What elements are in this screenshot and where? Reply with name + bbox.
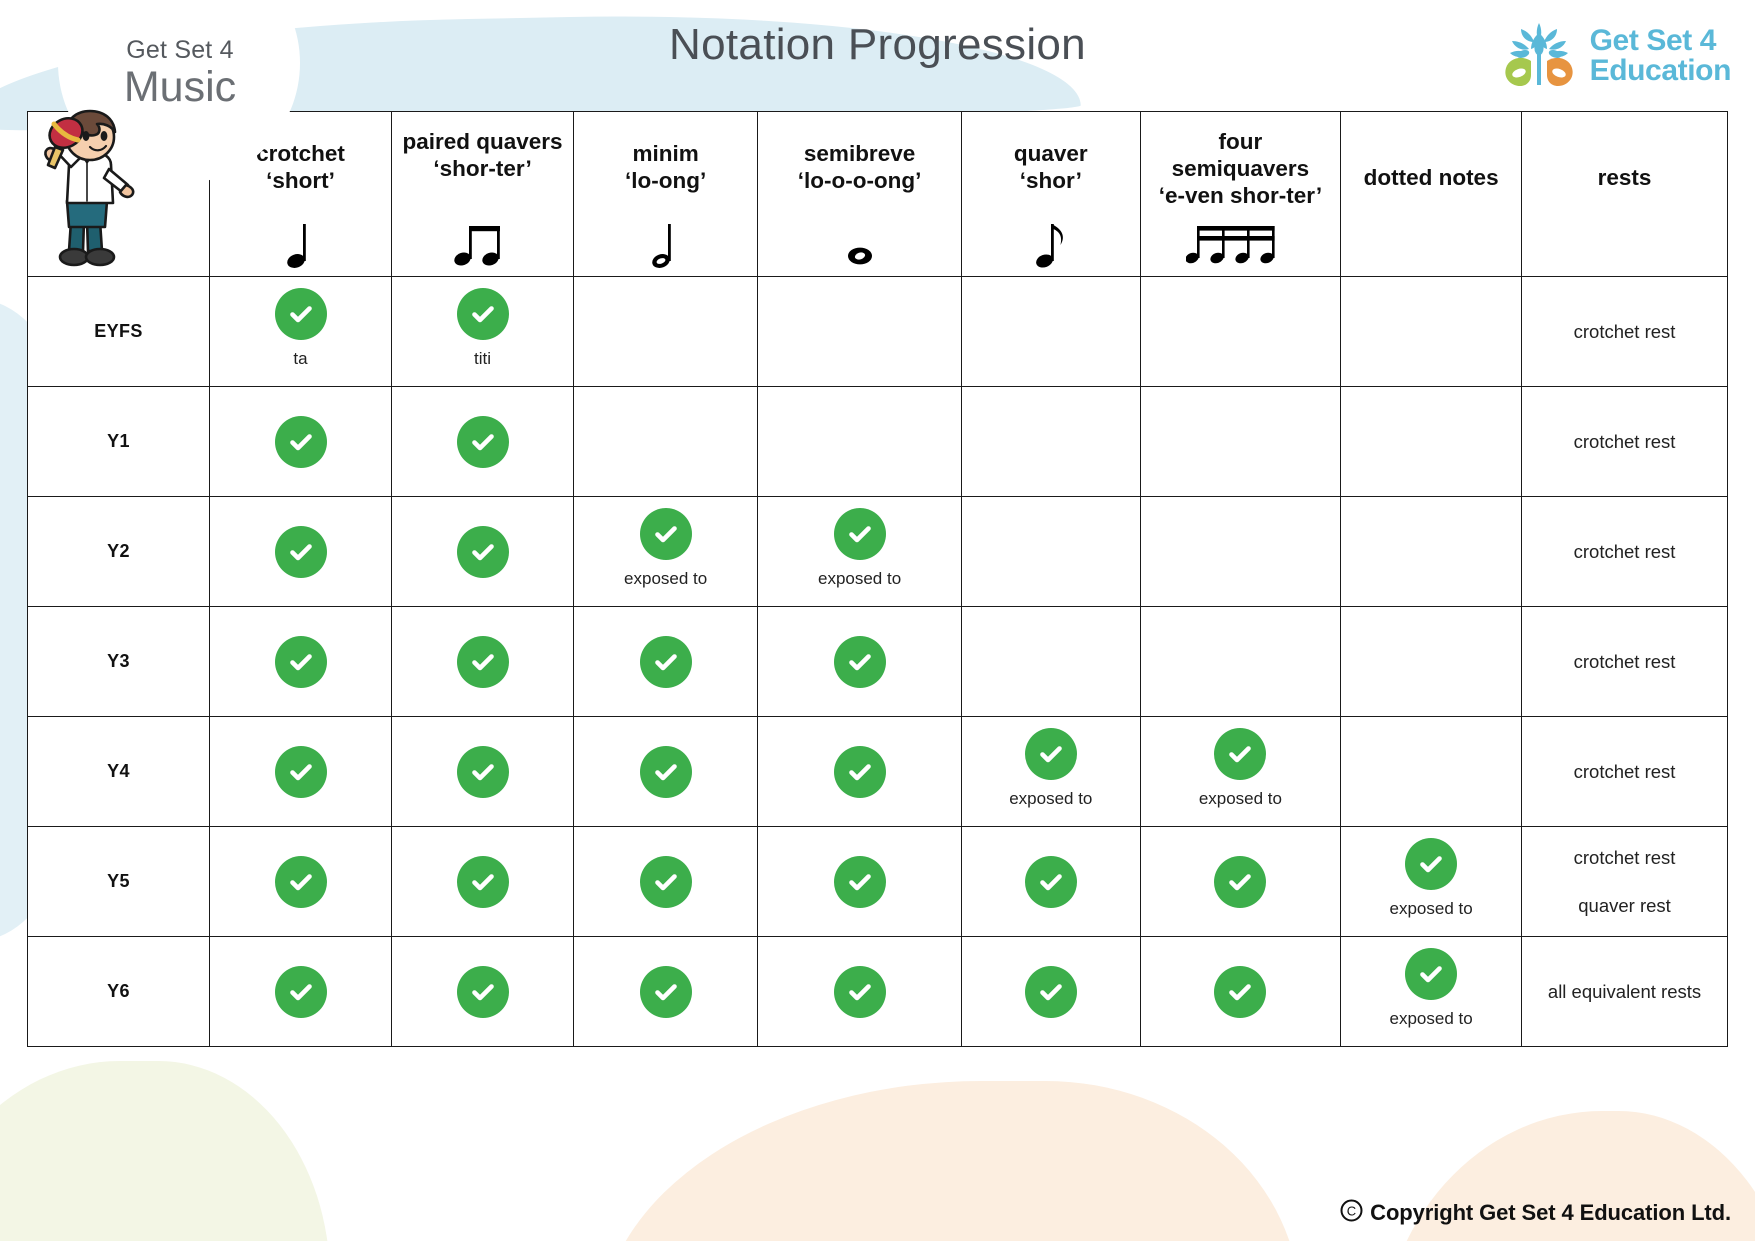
check-icon	[457, 288, 509, 340]
cell-paired_quavers	[392, 387, 574, 497]
cell-crotchet: ta	[210, 277, 392, 387]
cell-minim	[574, 827, 758, 937]
header-sub-four-semiquavers: ‘e-ven shor-ter’	[1147, 182, 1334, 209]
child-with-maraca-illustration	[24, 103, 154, 275]
header-label-dotted-notes: dotted notes	[1347, 164, 1515, 191]
four-semiquavers-note-icon	[1141, 214, 1340, 272]
header-cell-four-semiquavers: four semiquavers ‘e-ven shor-ter’	[1140, 112, 1340, 277]
header-sub-paired-quavers: ‘shor-ter’	[398, 155, 567, 182]
cell-note: exposed to	[1390, 899, 1473, 919]
background-blob-peach-left	[600, 1081, 1300, 1241]
row-label-cell: Y6	[28, 937, 210, 1047]
tree-hands-logo-icon	[1501, 17, 1577, 94]
cell-semibreve	[758, 607, 962, 717]
cell-crotchet	[210, 937, 392, 1047]
copyright-text: Copyright Get Set 4 Education Ltd.	[1370, 1200, 1731, 1226]
header-label-quaver: quaver	[968, 140, 1134, 167]
row-label-cell: EYFS	[28, 277, 210, 387]
copyright-icon: C	[1340, 1199, 1363, 1227]
get-set-4-education-logo: Get Set 4 Education	[1501, 17, 1731, 94]
header-label-rests: rests	[1528, 164, 1721, 191]
cell-minim	[574, 937, 758, 1047]
check-icon	[1405, 838, 1457, 890]
check-icon	[457, 526, 509, 578]
logo-line-1: Get Set 4	[1590, 26, 1731, 56]
cell-dotted_notes: exposed to	[1341, 827, 1522, 937]
footer-copyright: C Copyright Get Set 4 Education Ltd.	[1340, 1199, 1731, 1227]
check-icon	[1025, 966, 1077, 1018]
header-cell-dotted-notes: dotted notes	[1341, 112, 1522, 277]
logo-line-2: Education	[1590, 56, 1731, 86]
check-icon	[834, 636, 886, 688]
check-icon	[1214, 728, 1266, 780]
header-label-semibreve: semibreve	[764, 140, 955, 167]
table-row: Y1crotchet rest	[28, 387, 1728, 497]
cell-rests: crotchet rest	[1522, 277, 1728, 387]
rest-label: quaver rest	[1574, 882, 1676, 929]
check-icon	[457, 966, 509, 1018]
cell-semibreve	[758, 937, 962, 1047]
cell-note: ta	[293, 349, 307, 369]
table-row: Y2exposed toexposed tocrotchet rest	[28, 497, 1728, 607]
cell-dotted_notes	[1341, 607, 1522, 717]
table-row: EYFStatiticrotchet rest	[28, 277, 1728, 387]
cell-note: exposed to	[1009, 789, 1092, 809]
cell-semibreve: exposed to	[758, 497, 962, 607]
cell-quaver	[961, 937, 1140, 1047]
cell-four_semiquavers	[1140, 497, 1340, 607]
row-label-cell: Y5	[28, 827, 210, 937]
check-icon	[640, 746, 692, 798]
rest-label: crotchet rest	[1574, 638, 1676, 685]
rest-label: crotchet rest	[1574, 748, 1676, 795]
cell-four_semiquavers	[1140, 387, 1340, 497]
table-row: Y6exposed toall equivalent rests	[28, 937, 1728, 1047]
header-cell-crotchet: crotchet ‘short’	[210, 112, 392, 277]
check-icon	[1405, 948, 1457, 1000]
check-icon	[275, 636, 327, 688]
cell-quaver	[961, 277, 1140, 387]
cell-paired_quavers	[392, 937, 574, 1047]
cell-quaver: exposed to	[961, 717, 1140, 827]
cell-note: titi	[474, 349, 491, 369]
paired-quavers-note-icon	[392, 214, 573, 272]
row-label: Y2	[107, 541, 130, 562]
cell-dotted_notes	[1341, 497, 1522, 607]
cell-rests: crotchet restquaver rest	[1522, 827, 1728, 937]
cell-paired_quavers	[392, 497, 574, 607]
cell-four_semiquavers	[1140, 277, 1340, 387]
cell-dotted_notes	[1341, 717, 1522, 827]
cell-four_semiquavers: exposed to	[1140, 717, 1340, 827]
cell-rests: crotchet rest	[1522, 717, 1728, 827]
check-icon	[1025, 728, 1077, 780]
header-label-minim: minim	[580, 140, 751, 167]
page-root: Notation Progression Get Set 4 Music	[0, 0, 1755, 1241]
check-icon	[640, 966, 692, 1018]
cell-quaver	[961, 827, 1140, 937]
header-cell-paired-quavers: paired quavers ‘shor-ter’	[392, 112, 574, 277]
check-icon	[640, 636, 692, 688]
table-row: Y5exposed tocrotchet restquaver rest	[28, 827, 1728, 937]
header-cell-quaver: quaver ‘shor’	[961, 112, 1140, 277]
cell-paired_quavers: titi	[392, 277, 574, 387]
row-label: Y6	[107, 981, 130, 1002]
crotchet-note-icon	[210, 214, 391, 272]
header-label-crotchet: crotchet	[216, 140, 385, 167]
check-icon	[834, 746, 886, 798]
cell-rests: crotchet rest	[1522, 387, 1728, 497]
cell-four_semiquavers	[1140, 937, 1340, 1047]
rest-label: crotchet rest	[1574, 418, 1676, 465]
cell-rests: crotchet rest	[1522, 497, 1728, 607]
check-icon	[275, 856, 327, 908]
cell-dotted_notes	[1341, 387, 1522, 497]
cell-four_semiquavers	[1140, 607, 1340, 717]
cell-quaver	[961, 607, 1140, 717]
table-row: Y3crotchet rest	[28, 607, 1728, 717]
cell-minim	[574, 277, 758, 387]
row-label: EYFS	[94, 321, 143, 342]
check-icon	[457, 416, 509, 468]
cell-quaver	[961, 387, 1140, 497]
cell-paired_quavers	[392, 607, 574, 717]
check-icon	[834, 856, 886, 908]
cell-note: exposed to	[1199, 789, 1282, 809]
cell-note: exposed to	[1390, 1009, 1473, 1029]
check-icon	[834, 966, 886, 1018]
header-sub-crotchet: ‘short’	[216, 167, 385, 194]
check-icon	[640, 856, 692, 908]
header-cell-semibreve: semibreve ‘lo-o-o-ong’	[758, 112, 962, 277]
check-icon	[275, 526, 327, 578]
check-icon	[1214, 856, 1266, 908]
cell-crotchet	[210, 497, 392, 607]
header-cell-rests: rests	[1522, 112, 1728, 277]
check-icon	[834, 508, 886, 560]
check-icon	[640, 508, 692, 560]
check-icon	[457, 746, 509, 798]
rest-label: crotchet rest	[1574, 528, 1676, 575]
row-label: Y1	[107, 431, 130, 452]
cell-semibreve	[758, 387, 962, 497]
row-label: Y3	[107, 651, 130, 672]
cell-rests: all equivalent rests	[1522, 937, 1728, 1047]
header-label-paired-quavers: paired quavers	[398, 128, 567, 155]
rest-label: all equivalent rests	[1548, 968, 1701, 1015]
cell-paired_quavers	[392, 827, 574, 937]
quaver-note-icon	[962, 214, 1140, 272]
row-label-cell: Y3	[28, 607, 210, 717]
cell-semibreve	[758, 827, 962, 937]
cell-minim	[574, 607, 758, 717]
minim-note-icon	[574, 214, 757, 272]
row-label-cell: Y1	[28, 387, 210, 497]
cell-crotchet	[210, 717, 392, 827]
check-icon	[457, 856, 509, 908]
row-label-cell: Y2	[28, 497, 210, 607]
cell-crotchet	[210, 607, 392, 717]
check-icon	[275, 746, 327, 798]
cell-quaver	[961, 497, 1140, 607]
notation-progression-table: crotchet ‘short’ paired quavers ‘shor-te…	[27, 111, 1728, 1047]
cell-crotchet	[210, 827, 392, 937]
check-icon	[457, 636, 509, 688]
logo-wordmark: Get Set 4 Education	[1590, 26, 1731, 86]
header-sub-semibreve: ‘lo-o-o-ong’	[764, 167, 955, 194]
header-sub-minim: ‘lo-ong’	[580, 167, 751, 194]
cell-minim	[574, 717, 758, 827]
row-label: Y4	[107, 761, 130, 782]
check-icon	[275, 288, 327, 340]
row-label-cell: Y4	[28, 717, 210, 827]
row-label: Y5	[107, 871, 130, 892]
brand-wordmark: Get Set 4 Music	[72, 36, 288, 110]
check-icon	[1025, 856, 1077, 908]
cell-crotchet	[210, 387, 392, 497]
cell-dotted_notes	[1341, 277, 1522, 387]
semibreve-note-icon	[758, 214, 961, 272]
cell-dotted_notes: exposed to	[1341, 937, 1522, 1047]
cell-semibreve	[758, 277, 962, 387]
table-row: Y4exposed toexposed tocrotchet rest	[28, 717, 1728, 827]
svg-text:C: C	[1347, 1204, 1356, 1219]
check-icon	[1214, 966, 1266, 1018]
check-icon	[275, 416, 327, 468]
cell-paired_quavers	[392, 717, 574, 827]
brand-line-get-set-4: Get Set 4	[72, 36, 288, 65]
cell-minim: exposed to	[574, 497, 758, 607]
header-sub-quaver: ‘shor’	[968, 167, 1134, 194]
rest-label: crotchet rest	[1574, 308, 1676, 355]
cell-note: exposed to	[624, 569, 707, 589]
cell-semibreve	[758, 717, 962, 827]
background-blob-cream	[0, 1061, 330, 1241]
header-label-four-semiquavers: four semiquavers	[1147, 128, 1334, 182]
table-header-row: crotchet ‘short’ paired quavers ‘shor-te…	[28, 112, 1728, 277]
cell-note: exposed to	[818, 569, 901, 589]
header-cell-minim: minim ‘lo-ong’	[574, 112, 758, 277]
cell-minim	[574, 387, 758, 497]
cell-rests: crotchet rest	[1522, 607, 1728, 717]
check-icon	[275, 966, 327, 1018]
rest-label: crotchet rest	[1574, 834, 1676, 881]
cell-four_semiquavers	[1140, 827, 1340, 937]
